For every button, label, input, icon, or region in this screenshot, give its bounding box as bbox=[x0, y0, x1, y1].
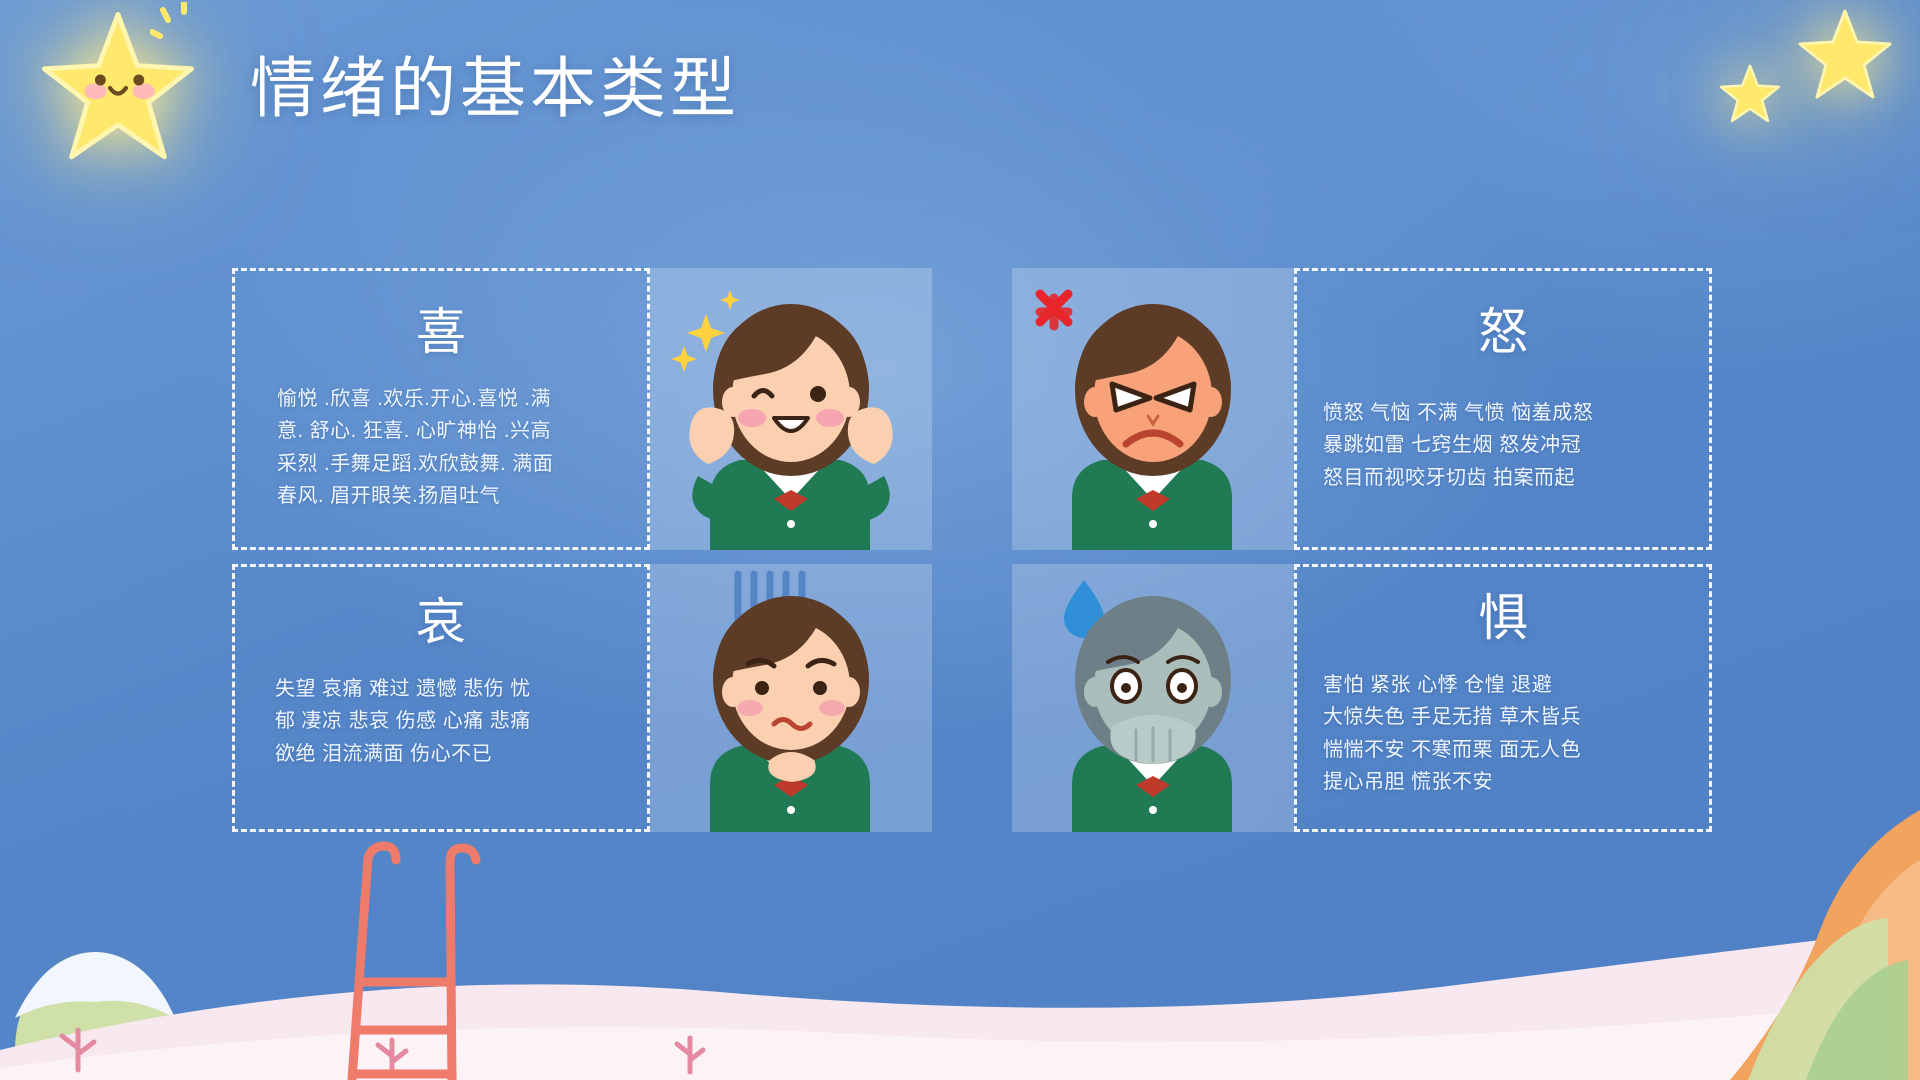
panel-anger-illustration bbox=[1012, 268, 1294, 550]
panel-anger-char: 怒 bbox=[1297, 307, 1709, 357]
bottom-scenery bbox=[0, 750, 1920, 1080]
panel-fear-char: 惧 bbox=[1297, 593, 1709, 643]
panel-joy-char: 喜 bbox=[235, 307, 647, 357]
panel-joy: 喜 愉悦 .欣喜 .欢乐.开心.喜悦 .满 意. 舒心. 狂喜. 心旷神怡 .兴… bbox=[232, 268, 650, 550]
panel-sorrow-char: 哀 bbox=[235, 597, 647, 647]
panel-anger: 怒 愤怒 气恼 不满 气愤 恼羞成怒 暴跳如雷 七窍生烟 怒发冲冠 怒目而视咬牙… bbox=[1294, 268, 1712, 550]
panel-joy-illustration bbox=[650, 268, 932, 550]
panel-joy-text: 愉悦 .欣喜 .欢乐.开心.喜悦 .满 意. 舒心. 狂喜. 心旷神怡 .兴高 … bbox=[277, 383, 623, 513]
slide-canvas: 情绪的基本类型 喜 愉悦 .欣喜 .欢乐.开心.喜悦 .满 意. 舒心. 狂喜.… bbox=[0, 0, 1920, 1080]
star-icon-right-top bbox=[1795, 5, 1895, 110]
panel-anger-text: 愤怒 气恼 不满 气愤 恼羞成怒 暴跳如雷 七窍生烟 怒发冲冠 怒目而视咬牙切齿… bbox=[1323, 397, 1683, 494]
page-title: 情绪的基本类型 bbox=[250, 52, 740, 128]
star-icon-right-small bbox=[1718, 62, 1782, 131]
star-sparkle-lines bbox=[150, 2, 220, 77]
